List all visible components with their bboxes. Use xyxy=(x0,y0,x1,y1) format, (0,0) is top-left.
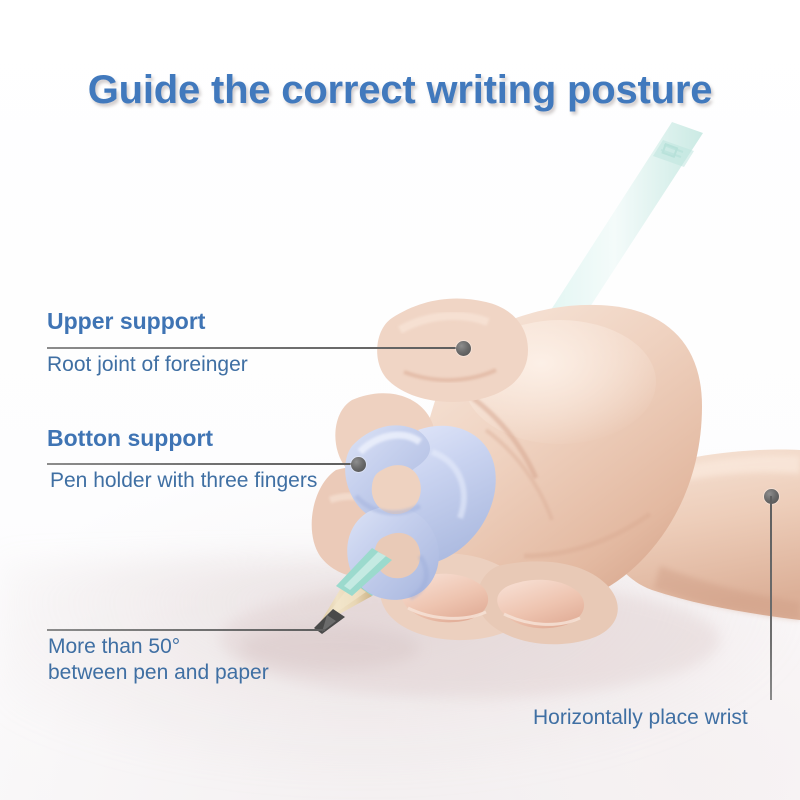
callout-bottom-support: Botton support xyxy=(47,425,213,452)
callout-angle: More than 50° between pen and paper xyxy=(48,634,269,686)
leader-dot-bottom-support xyxy=(351,457,366,472)
leader-line-angle xyxy=(47,629,325,631)
leader-line-bottom-support xyxy=(47,463,352,465)
callout-wrist-label: Horizontally place wrist xyxy=(533,705,748,731)
leader-dot-upper-support xyxy=(456,341,471,356)
page-title: Guide the correct writing posture xyxy=(0,68,800,113)
callout-angle-line1: More than 50° xyxy=(48,634,269,660)
callout-bottom-support-heading: Botton support xyxy=(47,425,213,452)
callout-angle-line2: between pen and paper xyxy=(48,660,269,686)
callout-wrist: Horizontally place wrist xyxy=(533,705,748,731)
product-infographic: Guide the correct writing posture Upper … xyxy=(0,0,800,800)
callout-upper-support: Upper support xyxy=(47,308,205,335)
callout-bottom-support-description: Pen holder with three fingers xyxy=(50,468,317,494)
callout-upper-support-heading: Upper support xyxy=(47,308,205,335)
leader-line-upper-support xyxy=(47,347,456,349)
callout-upper-support-desc: Root joint of foreinger xyxy=(47,352,248,378)
callout-bottom-support-desc: Pen holder with three fingers xyxy=(50,468,317,494)
callout-upper-support-description: Root joint of foreinger xyxy=(47,352,248,378)
leader-line-wrist xyxy=(770,496,772,700)
